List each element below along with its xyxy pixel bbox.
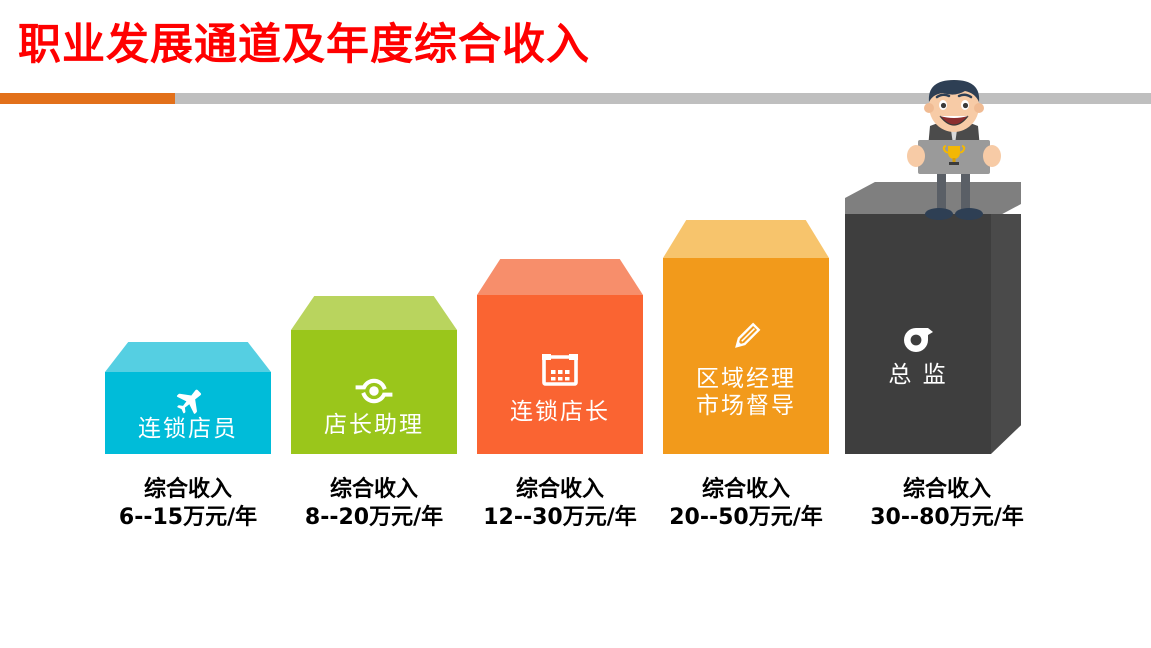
bar-label-1: 连锁店员 xyxy=(105,416,271,443)
caption-2-line2: 8--20万元/年 xyxy=(305,504,443,532)
caption-2: 综合收入 8--20万元/年 xyxy=(305,476,443,532)
bar-side-face-5 xyxy=(991,214,1021,454)
bar-front-face-4 xyxy=(663,258,829,454)
chart-column-3[interactable]: 连锁店长 xyxy=(477,259,643,454)
bar-label-line1: 店长助理 xyxy=(324,412,424,438)
caption-3-line1: 综合收入 xyxy=(483,476,637,504)
bar-label-line1: 总 监 xyxy=(888,362,947,388)
bar-top-face-4 xyxy=(663,220,829,258)
pencil-icon xyxy=(663,318,829,356)
bar-label-line1: 连锁店长 xyxy=(510,399,610,425)
chart-column-2[interactable]: 店长助理 xyxy=(291,296,457,454)
caption-5-line2: 30--80万元/年 xyxy=(870,504,1024,532)
mascot-businessman-with-trophy xyxy=(884,78,1024,223)
caption-3-line2: 12--30万元/年 xyxy=(483,504,637,532)
chart-column-4[interactable]: 区域经理 市场督导 xyxy=(663,220,829,454)
bar-label-line1: 连锁店员 xyxy=(138,416,238,442)
caption-4: 综合收入 20--50万元/年 xyxy=(669,476,823,532)
caption-5-line1: 综合收入 xyxy=(870,476,1024,504)
bar-top-face-2 xyxy=(291,296,457,330)
caption-4-line2: 20--50万元/年 xyxy=(669,504,823,532)
caption-2-line1: 综合收入 xyxy=(305,476,443,504)
caption-1: 综合收入 6--15万元/年 xyxy=(119,476,257,532)
caption-5: 综合收入 30--80万元/年 xyxy=(870,476,1024,532)
bar-label-3: 连锁店长 xyxy=(477,399,643,426)
caption-3: 综合收入 12--30万元/年 xyxy=(483,476,637,532)
bar-label-line1: 区域经理 xyxy=(663,366,829,393)
chart-column-1[interactable]: 连锁店员 xyxy=(105,342,271,454)
caption-4-line1: 综合收入 xyxy=(669,476,823,504)
bar-label-2: 店长助理 xyxy=(291,412,457,439)
network-node-icon xyxy=(291,374,457,408)
bar-top-face-1 xyxy=(105,342,271,372)
calendar-icon xyxy=(477,351,643,387)
bar-label-4: 区域经理 市场督导 xyxy=(663,366,829,420)
bar-top-face-3 xyxy=(477,259,643,295)
page-title: 职业发展通道及年度综合收入 xyxy=(18,24,590,67)
airplane-icon xyxy=(105,384,271,414)
caption-1-line1: 综合收入 xyxy=(119,476,257,504)
bar-label-line2: 市场督导 xyxy=(663,393,829,420)
director-badge-icon xyxy=(845,322,991,358)
bar-label-5: 总 监 xyxy=(845,362,991,389)
title-divider-accent xyxy=(0,93,175,104)
caption-1-line2: 6--15万元/年 xyxy=(119,504,257,532)
